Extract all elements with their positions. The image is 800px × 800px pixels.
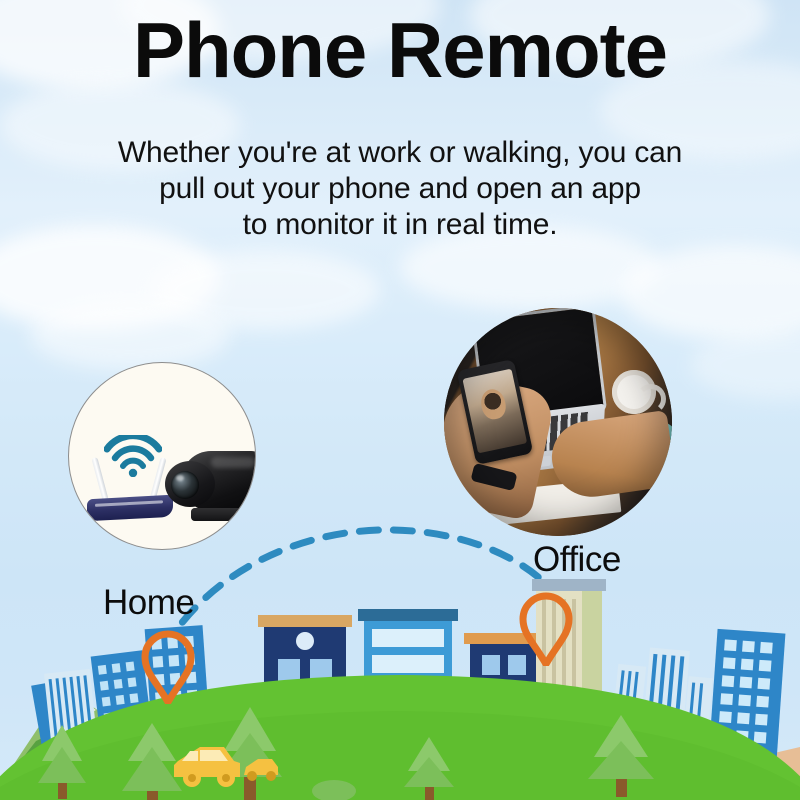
subtitle-line-2: pull out your phone and open an app — [0, 171, 800, 207]
phone-screen — [462, 369, 527, 454]
label-home: Home — [103, 583, 194, 623]
cloud-shape — [690, 330, 800, 400]
phone-video-feed — [478, 387, 508, 421]
page-title: Phone Remote — [0, 11, 800, 89]
subtitle-line-3: to monitor it in real time. — [0, 207, 800, 243]
poster-root: Phone Remote Whether you're at work or w… — [0, 0, 800, 800]
cloud-shape — [30, 300, 230, 370]
wifi-signal-icon — [104, 435, 162, 477]
subtitle-line-1: Whether you're at work or walking, you c… — [0, 135, 800, 171]
camera-lens — [171, 471, 199, 499]
map-pin-office-icon[interactable] — [519, 592, 573, 666]
page-subtitle: Whether you're at work or walking, you c… — [0, 135, 800, 243]
label-office: Office — [533, 540, 621, 580]
coffee-cup-handle — [636, 384, 666, 414]
map-pin-home-icon[interactable] — [141, 630, 195, 704]
cloud-shape — [150, 250, 380, 330]
